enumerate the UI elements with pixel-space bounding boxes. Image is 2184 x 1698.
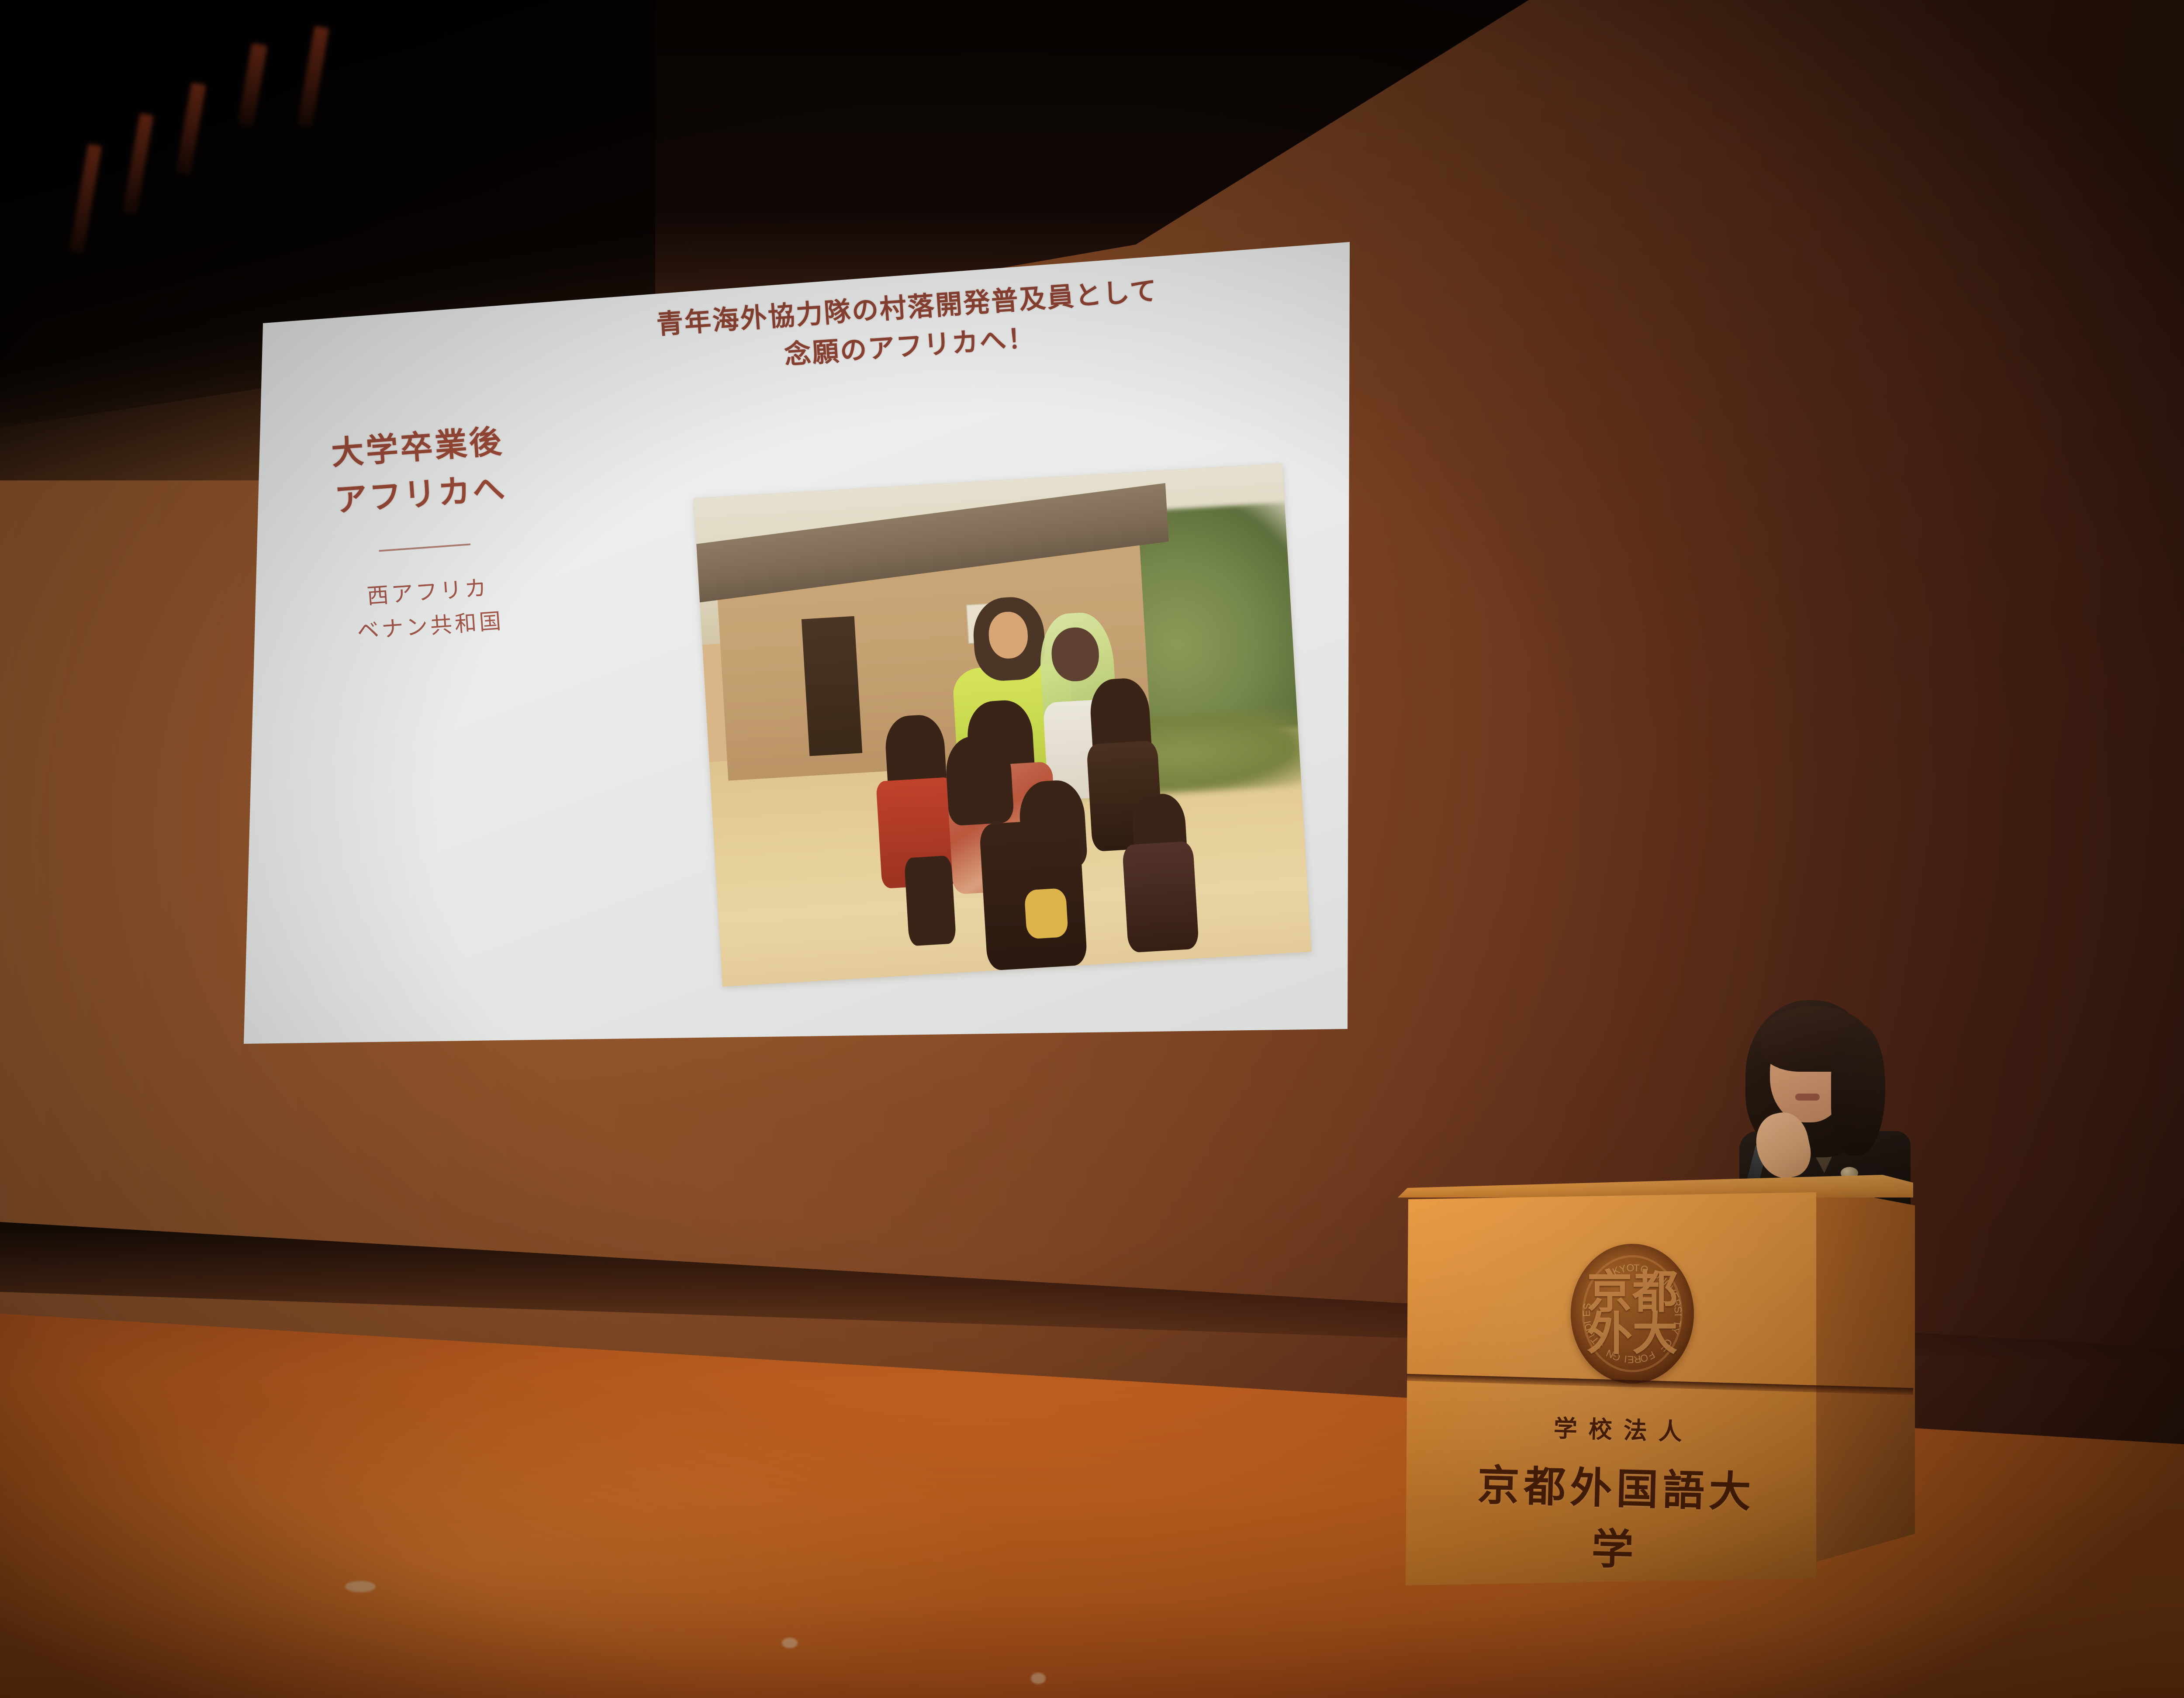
slide-title: 青年海外協力隊の村落開発普及員として 念願のアフリカへ！ xyxy=(522,262,1295,392)
slide-subtitle: 西アフリカ ベナン共和国 xyxy=(305,567,554,652)
slide-heading: 大学卒業後 アフリカへ xyxy=(294,415,545,527)
lectern-side-panel xyxy=(1814,1184,1915,1569)
lectern-org-name: 京都外国語大学 xyxy=(1461,1451,1770,1580)
slide-left-text-block: 大学卒業後 アフリカへ 西アフリカ ベナン共和国 xyxy=(294,415,554,652)
slide-photograph xyxy=(694,463,1311,987)
lectern-org-prefix: 学校法人 xyxy=(1465,1407,1771,1449)
photo-doorway xyxy=(801,616,862,756)
photo-child xyxy=(904,856,957,946)
slide-divider-rule xyxy=(379,543,470,552)
lectern-top-surface xyxy=(1398,1175,1913,1198)
floor-speck xyxy=(345,1581,376,1592)
university-emblem: KYOTO UNIVERSITY OF FOREIGN STUDIES 京都外大 xyxy=(1571,1244,1694,1384)
lectern-nameplate: 学校法人 京都外国語大学 xyxy=(1461,1407,1771,1580)
photo-child-yellow-cloth xyxy=(1024,888,1068,939)
projection-screen: 青年海外協力隊の村落開発普及員として 念願のアフリカへ！ 大学卒業後 アフリカへ… xyxy=(236,236,1358,1048)
presentation-slide: 青年海外協力隊の村落開発普及員として 念願のアフリカへ！ 大学卒業後 アフリカへ… xyxy=(236,236,1358,1048)
lectern: KYOTO UNIVERSITY OF FOREIGN STUDIES 京都外大… xyxy=(1398,1175,1913,1590)
photo-child-body xyxy=(1122,841,1199,953)
lecture-hall-photo: 青年海外協力隊の村落開発普及員として 念願のアフリカへ！ 大学卒業後 アフリカへ… xyxy=(0,0,2184,1698)
floor-speck xyxy=(782,1638,798,1648)
speaker-hair-side xyxy=(1831,1025,1885,1156)
floor-speck xyxy=(1031,1673,1046,1684)
speaker-mouth xyxy=(1795,1094,1820,1101)
emblem-kanji: 京都外大 xyxy=(1571,1272,1694,1355)
photo-child xyxy=(944,735,1014,826)
